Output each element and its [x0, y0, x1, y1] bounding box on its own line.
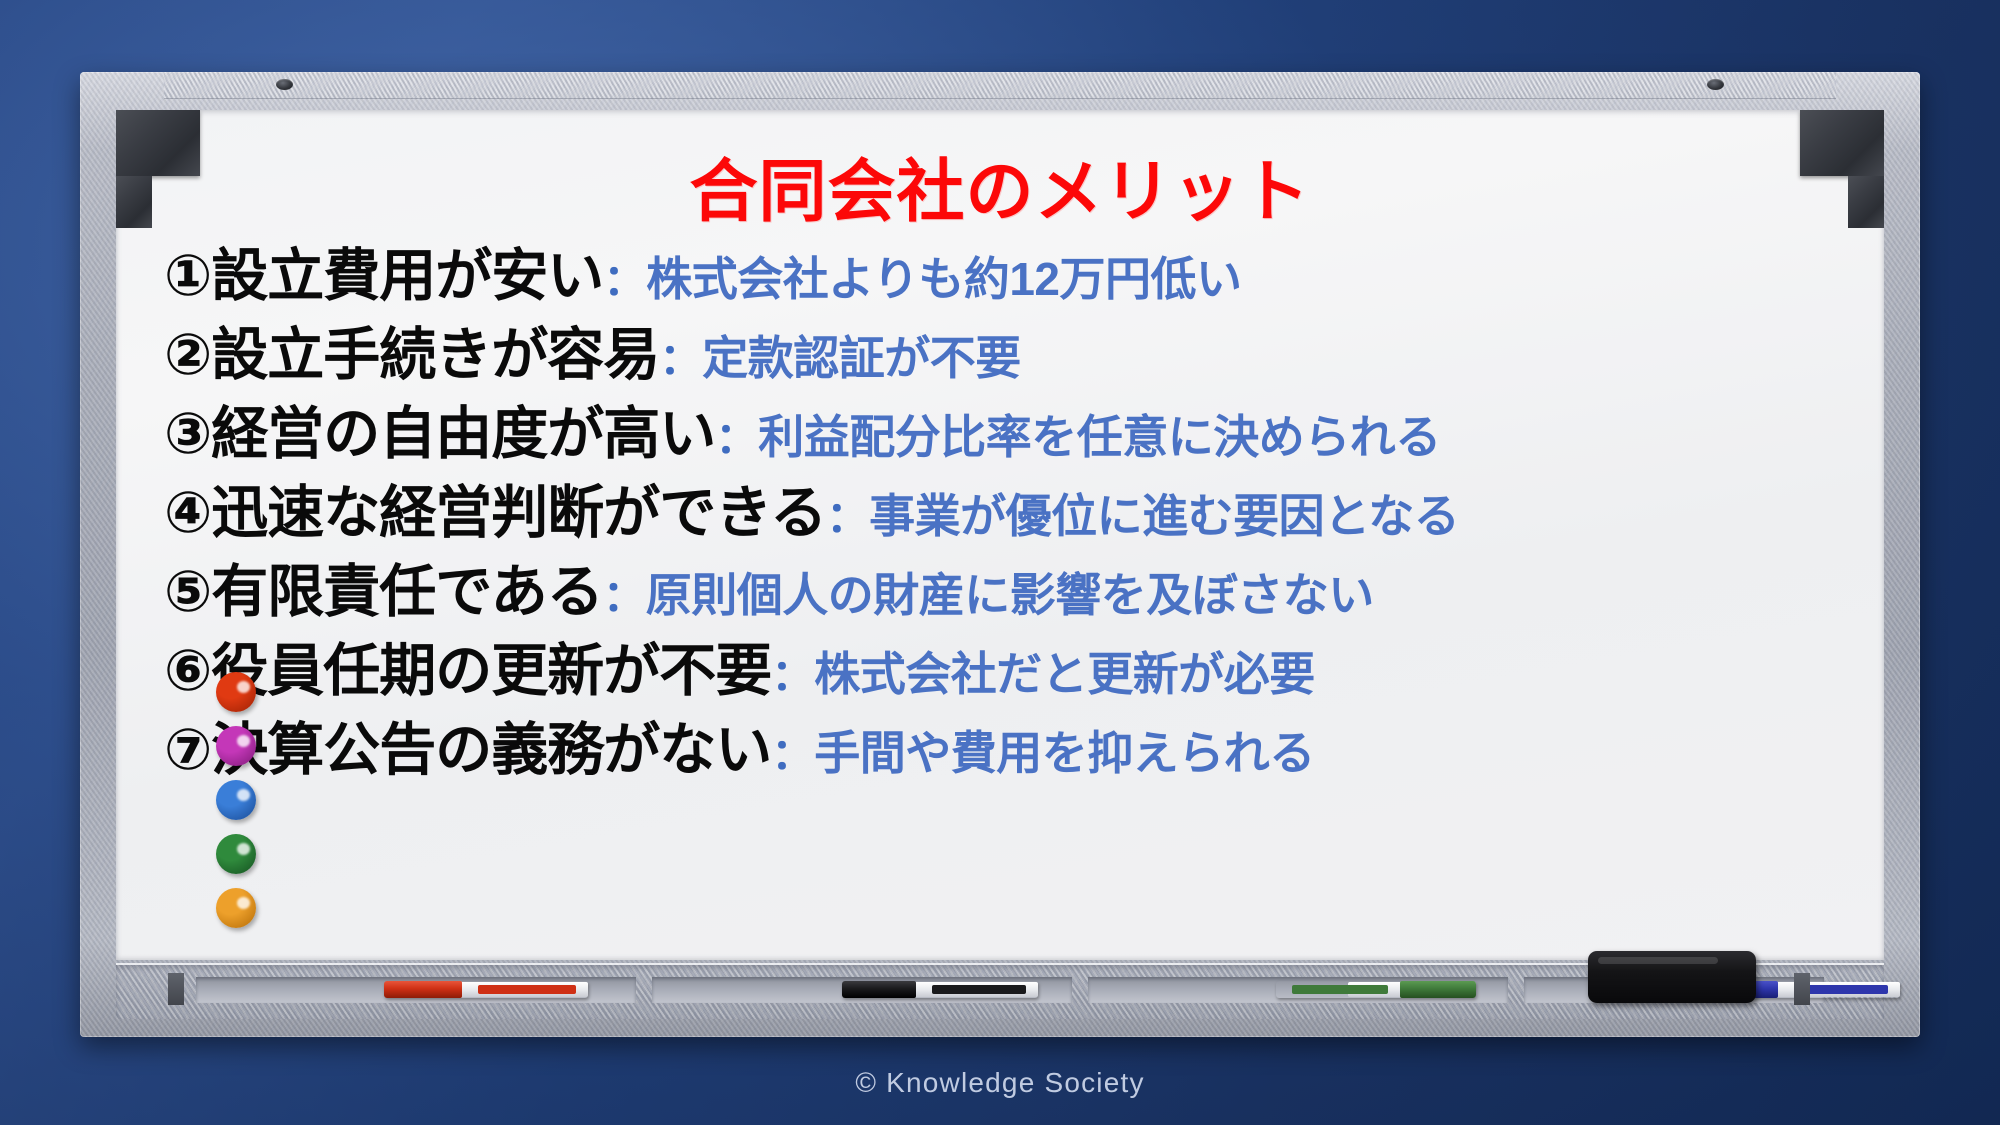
tray-stub-left [168, 973, 184, 1005]
merit-sub-1: 株式会社よりも約12万円低い [646, 253, 1241, 305]
magnet-blue-icon[interactable] [216, 780, 256, 820]
marker-cap [842, 981, 916, 998]
merit-colon-5: ： [603, 573, 646, 621]
list-item: ⑥役員任期の更新が不要：株式会社だと更新が必要 [164, 643, 1884, 700]
merit-sub-2: 定款認証が不要 [702, 332, 1021, 384]
merit-sub-5: 原則個人の財産に影響を及ぼさない [646, 569, 1374, 621]
marker-stripe [1292, 985, 1388, 994]
marker-stripe [478, 985, 576, 994]
merit-main-4: ④迅速な経営判断ができる [164, 481, 826, 545]
merit-sub-6: 株式会社だと更新が必要 [814, 648, 1315, 700]
list-item: ⑤有限責任である：原則個人の財産に影響を及ぼさない [164, 564, 1884, 621]
slide-canvas: 合同会社のメリット ①設立費用が安い：株式会社よりも約12万円低い ②設立手続き… [0, 0, 2000, 1125]
list-item: ①設立費用が安い：株式会社よりも約12万円低い [164, 248, 1884, 305]
merit-main-5: ⑤有限責任である [164, 560, 603, 624]
whiteboard-top-rail [164, 72, 1836, 99]
whiteboard-surface: 合同会社のメリット ①設立費用が安い：株式会社よりも約12万円低い ②設立手続き… [116, 110, 1884, 960]
merits-list: ①設立費用が安い：株式会社よりも約12万円低い ②設立手続きが容易：定款認証が不… [116, 248, 1884, 779]
list-item: ③経営の自由度が高い：利益配分比率を任意に決められる [164, 406, 1884, 463]
merit-colon-4: ： [826, 494, 869, 542]
screw-icon-right [1707, 79, 1724, 90]
marker-stripe [932, 985, 1026, 994]
marker-cap [1400, 981, 1476, 998]
footer-copyright: © Knowledge Society [0, 1067, 2000, 1099]
marker-red-icon[interactable] [384, 981, 588, 998]
merit-colon-7: ： [771, 731, 814, 779]
marker-black-icon[interactable] [842, 981, 1038, 998]
corner-bracket-top-left [116, 110, 200, 176]
tray-stub-right [1794, 973, 1810, 1005]
merit-main-2: ②設立手続きが容易 [164, 323, 659, 387]
slide-content: 合同会社のメリット ①設立費用が安い：株式会社よりも約12万円低い ②設立手続き… [116, 110, 1884, 960]
list-item: ④迅速な経営判断ができる：事業が優位に進む要因となる [164, 485, 1884, 542]
magnet-green-icon[interactable] [216, 834, 256, 874]
magnet-magenta-icon[interactable] [216, 726, 256, 766]
page-title: 合同会社のメリット [116, 158, 1884, 226]
merit-main-3: ③経営の自由度が高い [164, 402, 715, 466]
merit-colon-6: ： [771, 652, 814, 700]
magnet-red-icon[interactable] [216, 672, 256, 712]
merit-sub-4: 事業が優位に進む要因となる [869, 490, 1459, 542]
screw-icon-left [276, 79, 293, 90]
merit-colon-2: ： [659, 336, 702, 384]
list-item: ②設立手続きが容易：定款認証が不要 [164, 327, 1884, 384]
marker-cap [384, 981, 462, 998]
merit-main-1: ①設立費用が安い [164, 244, 603, 308]
magnet-strip [216, 672, 256, 942]
merit-colon-3: ： [715, 415, 758, 463]
merit-sub-7: 手間や費用を抑えられる [814, 727, 1315, 779]
whiteboard: 合同会社のメリット ①設立費用が安い：株式会社よりも約12万円低い ②設立手続き… [80, 72, 1920, 1037]
magnet-orange-icon[interactable] [216, 888, 256, 928]
list-item: ⑦決算公告の義務がない：手間や費用を抑えられる [164, 722, 1884, 779]
corner-bracket-top-right [1800, 110, 1884, 176]
whiteboard-eraser-icon[interactable] [1588, 951, 1756, 1003]
marker-green-icon[interactable] [1276, 981, 1476, 998]
merit-colon-1: ： [603, 257, 646, 305]
whiteboard-marker-tray [116, 963, 1884, 1019]
merit-sub-3: 利益配分比率を任意に決められる [758, 411, 1441, 463]
